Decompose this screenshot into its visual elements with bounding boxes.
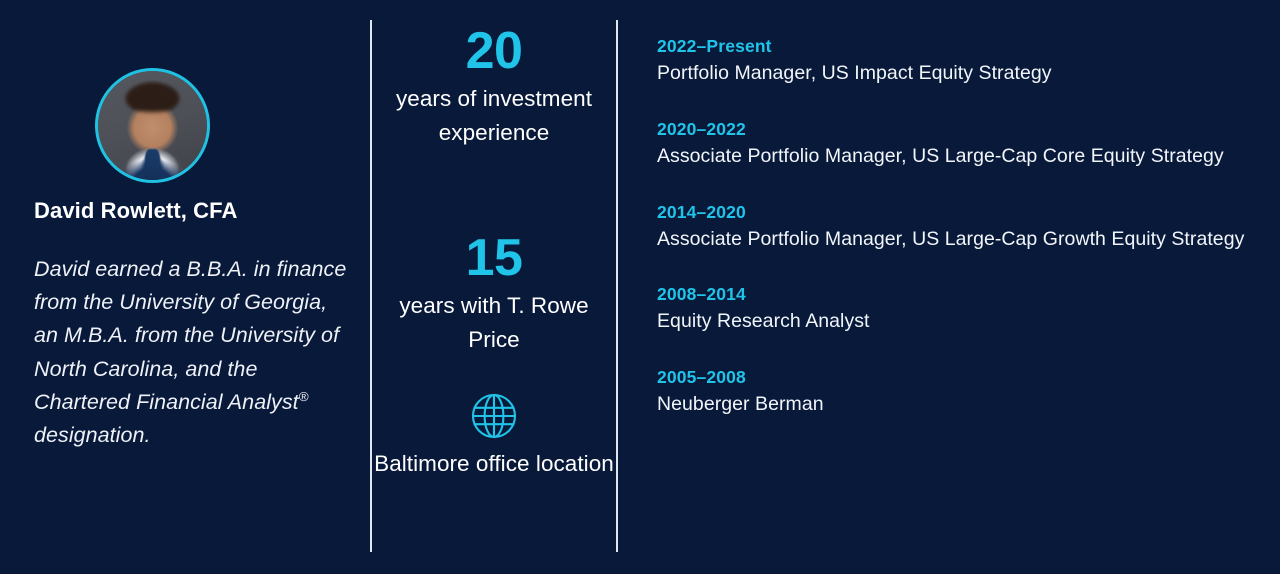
profile-bio: David earned a B.B.A. in finance from th… [34, 253, 352, 452]
timeline-item: 2014–2020 Associate Portfolio Manager, U… [657, 199, 1257, 254]
timeline-years: 2022–Present [657, 33, 1257, 59]
avatar [95, 68, 210, 183]
career-timeline: 2022–Present Portfolio Manager, US Impac… [657, 33, 1257, 419]
stat-location-label: Baltimore office location [372, 447, 616, 481]
globe-icon [467, 389, 521, 443]
page-title: David Rowlett, CFA [34, 198, 238, 224]
profile-bio-text-end: designation. [34, 423, 151, 447]
timeline-role: Portfolio Manager, US Impact Equity Stra… [657, 59, 1257, 88]
timeline-item: 2005–2008 Neuberger Berman [657, 364, 1257, 419]
profile-column: David Rowlett, CFA David earned a B.B.A.… [0, 0, 371, 574]
bio-card: David Rowlett, CFA David earned a B.B.A.… [0, 0, 1280, 574]
stat-experience-label: years of investment experience [372, 82, 616, 149]
timeline-years: 2020–2022 [657, 116, 1257, 142]
globe-icon-wrap [372, 385, 616, 447]
registered-mark: ® [299, 389, 309, 404]
timeline-role: Equity Research Analyst [657, 307, 1257, 336]
timeline-role: Associate Portfolio Manager, US Large-Ca… [657, 225, 1257, 254]
timeline-item: 2022–Present Portfolio Manager, US Impac… [657, 33, 1257, 88]
stat-location: Baltimore office location [372, 385, 616, 481]
timeline-years: 2014–2020 [657, 199, 1257, 225]
stat-experience-number: 20 [372, 20, 616, 82]
divider-right [616, 20, 618, 552]
stat-tenure: 15 years with T. Rowe Price [372, 227, 616, 356]
timeline-role: Neuberger Berman [657, 390, 1257, 419]
timeline-role: Associate Portfolio Manager, US Large-Ca… [657, 142, 1257, 171]
stat-experience: 20 years of investment experience [372, 20, 616, 149]
timeline-years: 2008–2014 [657, 281, 1257, 307]
timeline-item: 2020–2022 Associate Portfolio Manager, U… [657, 116, 1257, 171]
avatar-photo [98, 71, 207, 180]
timeline-item: 2008–2014 Equity Research Analyst [657, 281, 1257, 336]
timeline-years: 2005–2008 [657, 364, 1257, 390]
stats-column: 20 years of investment experience 15 yea… [372, 0, 616, 574]
stat-tenure-label: years with T. Rowe Price [372, 289, 616, 356]
stat-tenure-number: 15 [372, 227, 616, 289]
